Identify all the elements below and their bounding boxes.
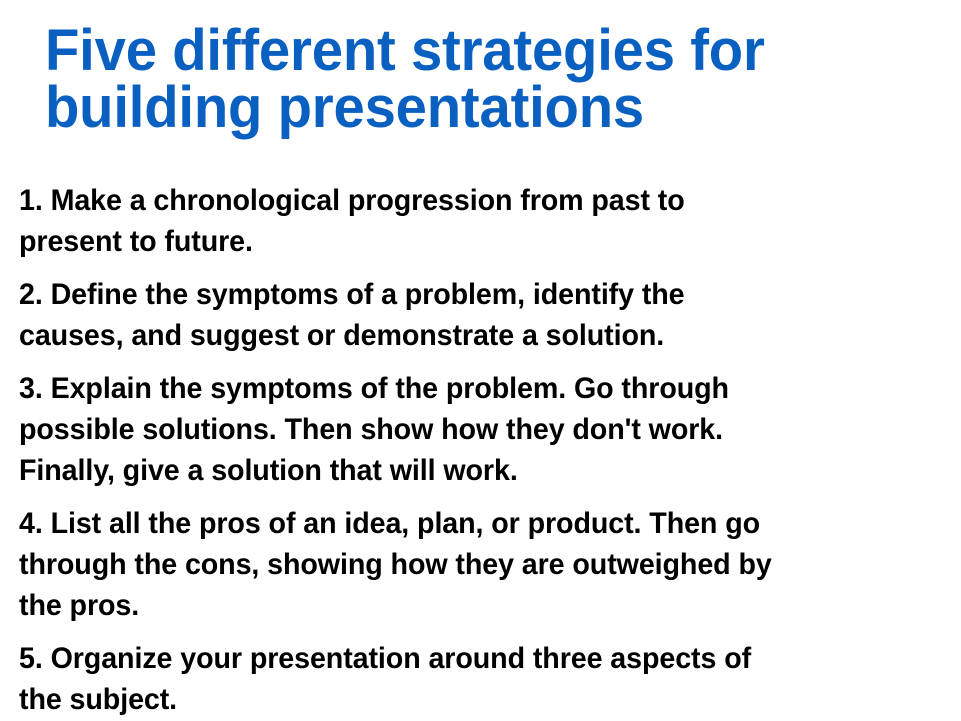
list-item: 3. Explain the symptoms of the problem. … [19,368,911,491]
list-item: 5. Organize your presentation around thr… [19,638,911,720]
list-item: 4. List all the pros of an idea, plan, o… [19,503,911,626]
strategy-list: 1. Make a chronological progression from… [19,180,953,720]
list-item: 1. Make a chronological progression from… [19,180,911,262]
slide-title: Five different strategies for building p… [45,22,918,136]
list-item: 2. Define the symptoms of a problem, ide… [19,274,911,356]
presentation-slide: Five different strategies for building p… [0,0,961,721]
